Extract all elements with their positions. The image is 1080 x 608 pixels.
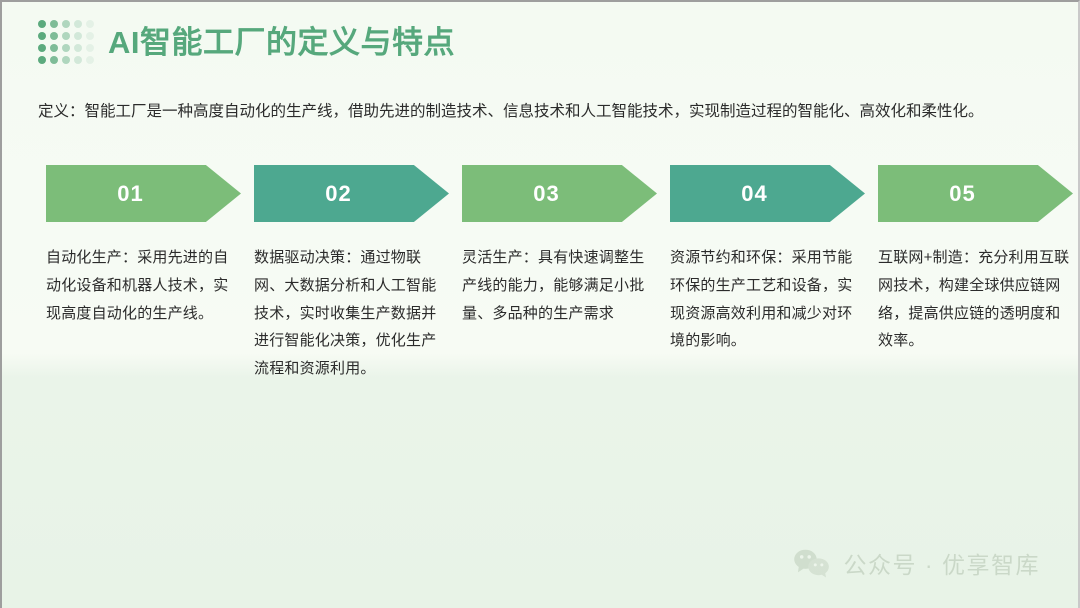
watermark: 公众号 · 优享智库 (793, 546, 1040, 580)
feature-column: 04 资源节约和环保：采用节能环保的生产工艺和设备，实现资源高效利用和减少对环境… (670, 165, 865, 383)
step-arrow-01: 01 (46, 165, 241, 222)
dot-grid-icon (38, 20, 94, 64)
feature-column: 01 自动化生产：采用先进的自动化设备和机器人技术，实现高度自动化的生产线。 (46, 165, 241, 383)
watermark-text: 公众号 · 优享智库 (844, 546, 1040, 580)
step-number: 04 (741, 181, 767, 207)
step-body-05: 互联网+制造：充分利用互联网技术，构建全球供应链网络，提高供应链的透明度和效率。 (878, 244, 1073, 355)
feature-columns: 01 自动化生产：采用先进的自动化设备和机器人技术，实现高度自动化的生产线。 0… (46, 165, 1046, 383)
step-number: 02 (325, 181, 351, 207)
definition-text: 定义：智能工厂是一种高度自动化的生产线，借助先进的制造技术、信息技术和人工智能技… (38, 100, 1048, 123)
step-body-02: 数据驱动决策：通过物联网、大数据分析和人工智能技术，实时收集生产数据并进行智能化… (254, 244, 449, 383)
slide-header: AI智能工厂的定义与特点 (38, 20, 455, 64)
step-body-04: 资源节约和环保：采用节能环保的生产工艺和设备，实现资源高效利用和减少对环境的影响… (670, 244, 865, 355)
step-number: 01 (117, 181, 143, 207)
step-number: 05 (949, 181, 975, 207)
wechat-icon (793, 548, 831, 578)
step-body-01: 自动化生产：采用先进的自动化设备和机器人技术，实现高度自动化的生产线。 (46, 244, 241, 327)
step-number: 03 (533, 181, 559, 207)
slide-canvas: AI智能工厂的定义与特点 定义：智能工厂是一种高度自动化的生产线，借助先进的制造… (0, 0, 1080, 608)
step-arrow-02: 02 (254, 165, 449, 222)
step-body-03: 灵活生产：具有快速调整生产线的能力，能够满足小批量、多品种的生产需求 (462, 244, 657, 327)
step-arrow-04: 04 (670, 165, 865, 222)
feature-column: 05 互联网+制造：充分利用互联网技术，构建全球供应链网络，提高供应链的透明度和… (878, 165, 1073, 383)
feature-column: 02 数据驱动决策：通过物联网、大数据分析和人工智能技术，实时收集生产数据并进行… (254, 165, 449, 383)
step-arrow-05: 05 (878, 165, 1073, 222)
step-arrow-03: 03 (462, 165, 657, 222)
page-title: AI智能工厂的定义与特点 (108, 27, 455, 58)
feature-column: 03 灵活生产：具有快速调整生产线的能力，能够满足小批量、多品种的生产需求 (462, 165, 657, 383)
